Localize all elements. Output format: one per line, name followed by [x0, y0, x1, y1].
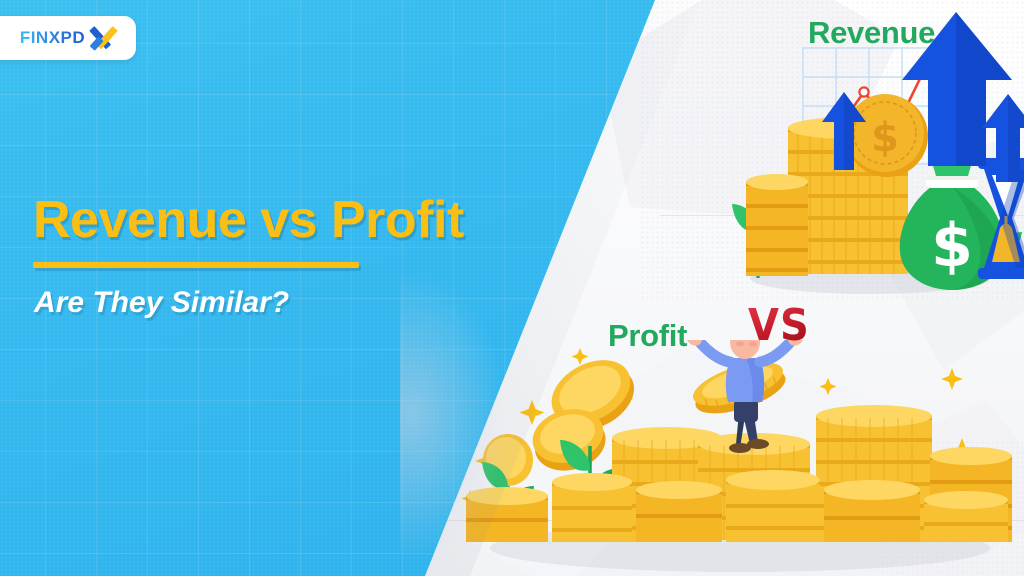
profit-illustration	[440, 340, 1024, 576]
coin-dollar-symbol: $	[871, 115, 899, 161]
revenue-label: Revenue	[808, 15, 935, 51]
logo-wordmark: FINXPD	[20, 28, 85, 48]
logo-x-icon	[90, 23, 116, 53]
title-underline	[33, 262, 359, 268]
page-subtitle: Are They Similar?	[34, 286, 289, 320]
brand-logo[interactable]: FINXPD	[0, 16, 136, 60]
profit-label: Profit	[608, 318, 687, 354]
hero-banner: $ $	[0, 0, 1024, 576]
money-bag-dollar-symbol: $	[931, 211, 973, 281]
versus-label: VS	[748, 301, 810, 351]
page-title: Revenue vs Profit	[33, 190, 464, 250]
